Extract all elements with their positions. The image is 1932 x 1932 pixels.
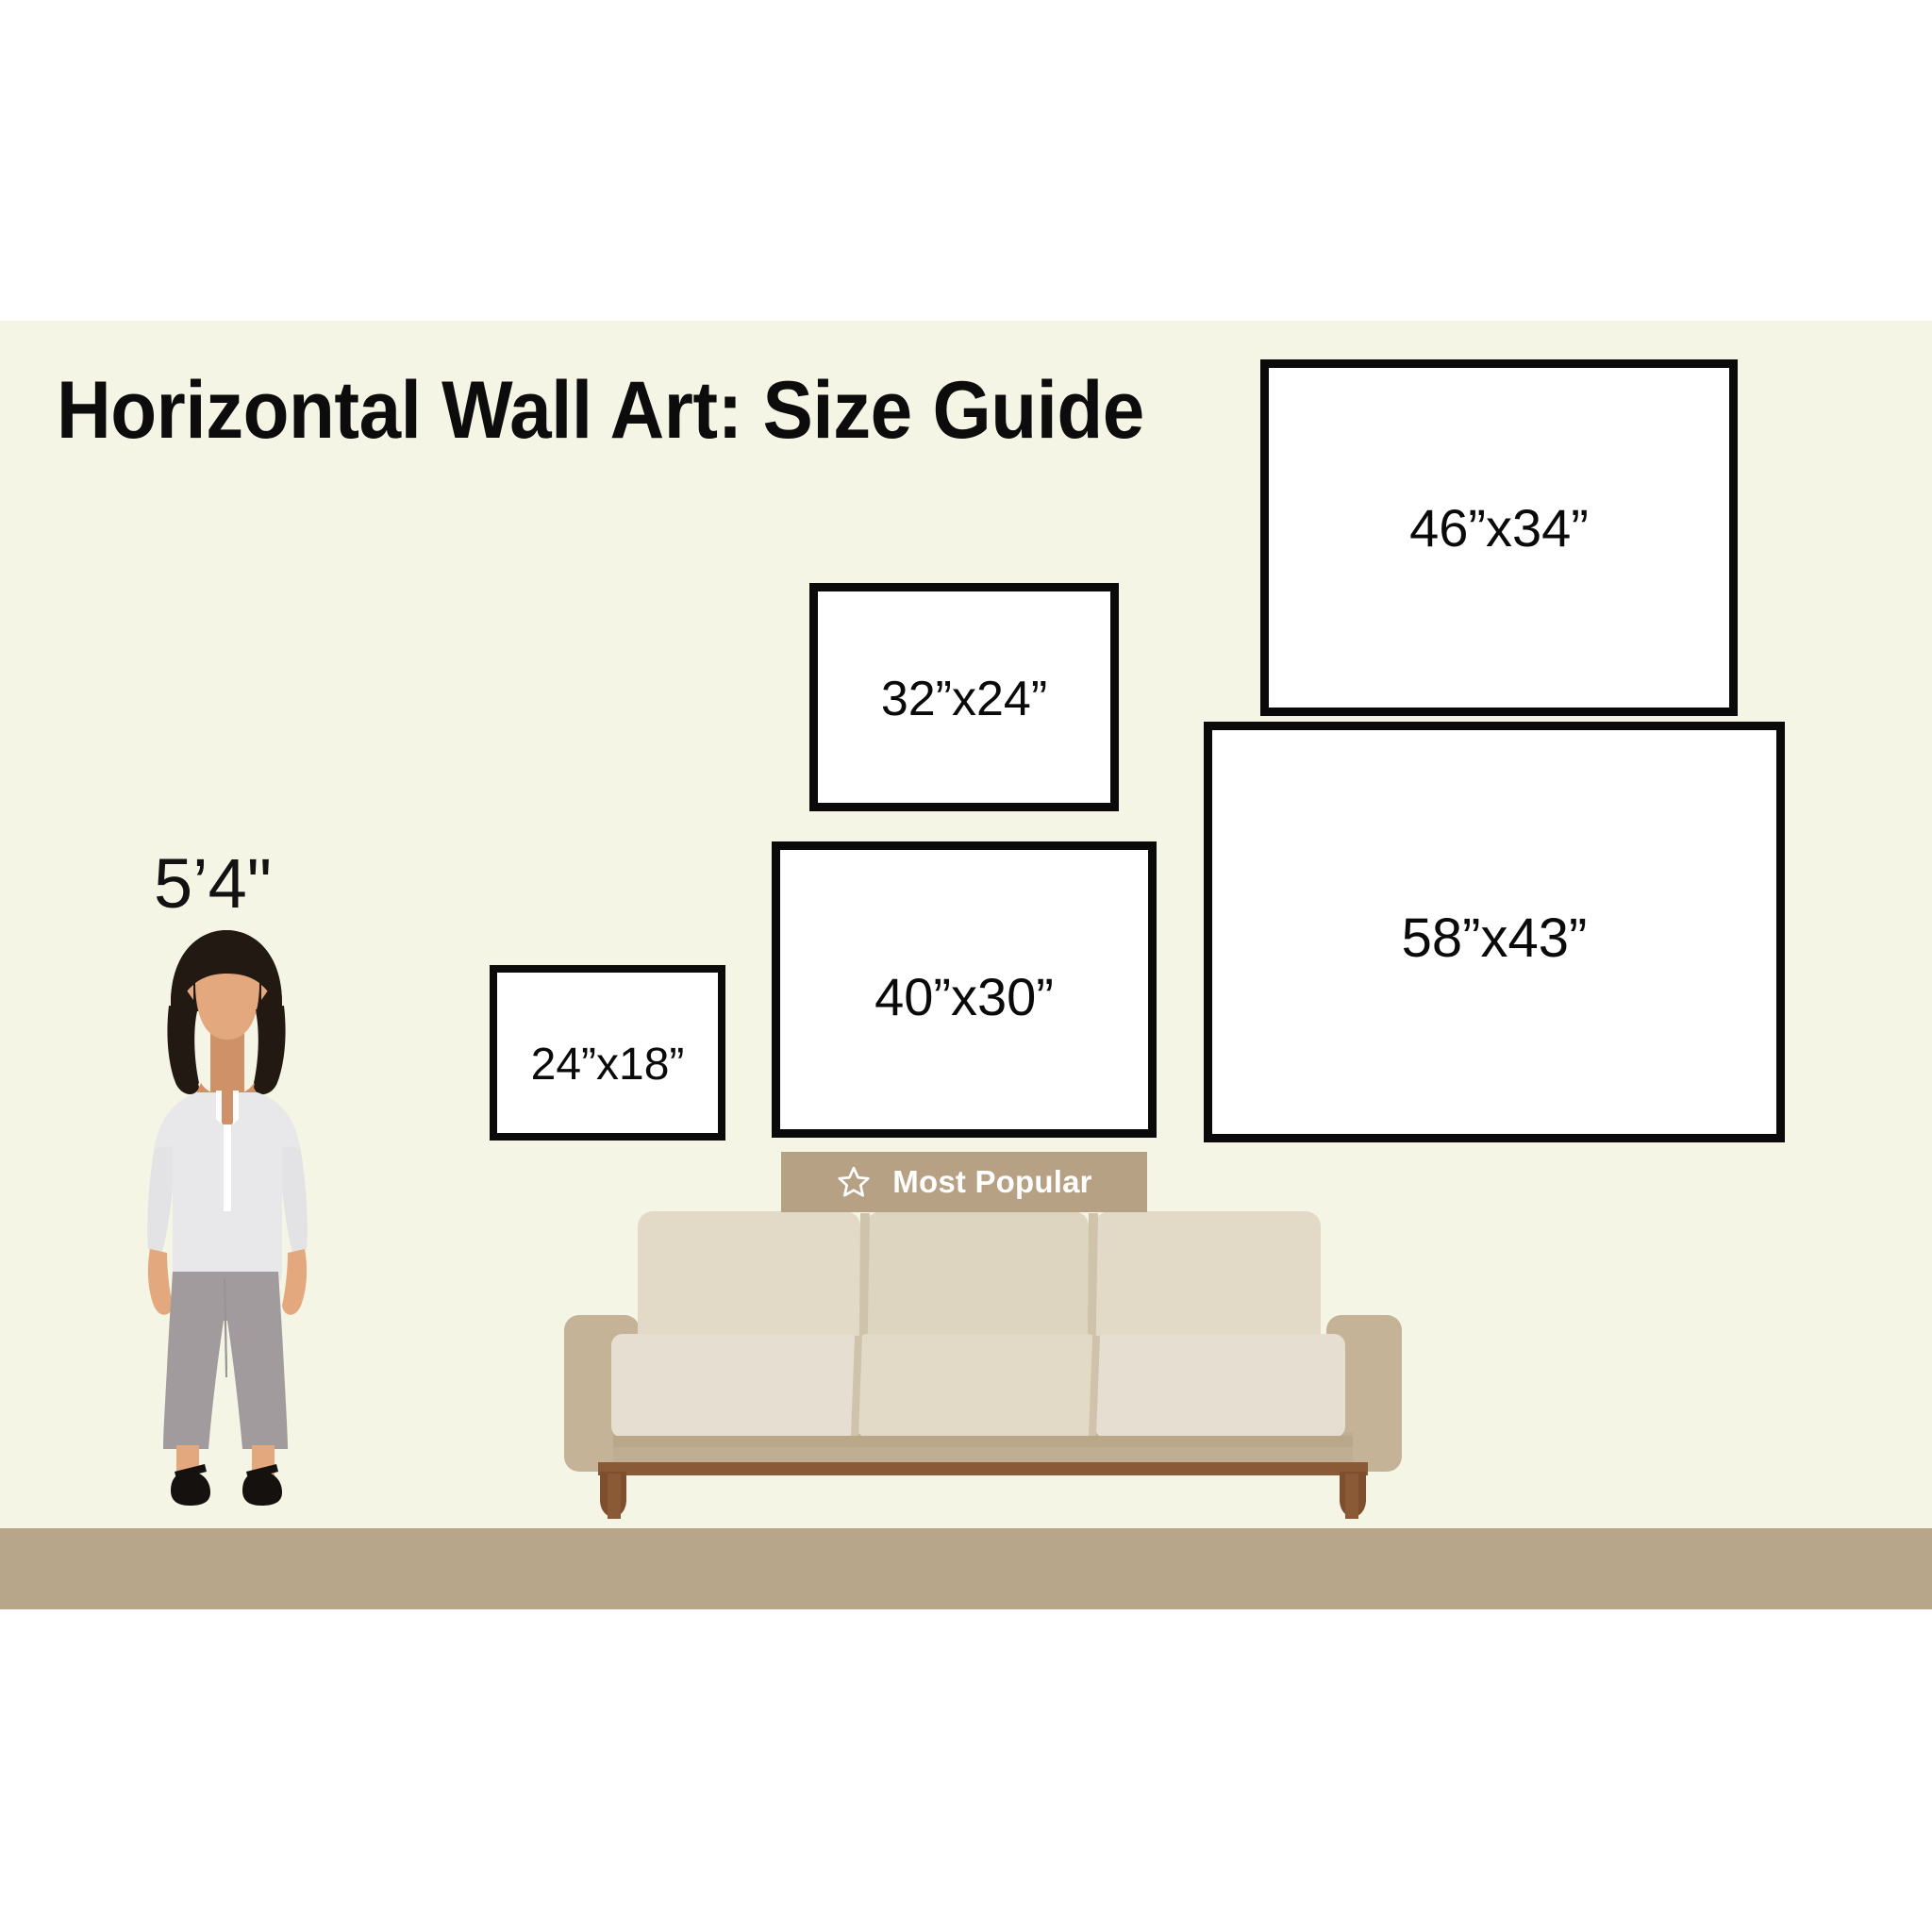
- frame-label-40x30: 40”x30”: [780, 971, 1148, 1024]
- sofa-illustration: [558, 1198, 1407, 1530]
- frame-32x24[interactable]: 32”x24”: [809, 583, 1119, 811]
- wall-art-size-guide-infographic: Horizontal Wall Art: Size Guide 5’4": [0, 0, 1932, 1932]
- person-figure: [118, 924, 335, 1528]
- frame-24x18[interactable]: 24”x18”: [490, 965, 725, 1141]
- frame-40x30[interactable]: 40”x30”: [772, 841, 1157, 1138]
- frame-46x34[interactable]: 46”x34”: [1260, 359, 1738, 716]
- frame-label-24x18: 24”x18”: [497, 1042, 718, 1088]
- star-outline-icon: [836, 1164, 872, 1200]
- frame-label-46x34: 46”x34”: [1269, 502, 1729, 555]
- floor-band: [0, 1528, 1932, 1609]
- room-scene: Horizontal Wall Art: Size Guide 5’4": [0, 321, 1932, 1609]
- frame-label-58x43: 58”x43”: [1212, 911, 1776, 966]
- most-popular-badge[interactable]: Most Popular: [781, 1152, 1147, 1212]
- page-title: Horizontal Wall Art: Size Guide: [57, 370, 1144, 451]
- frame-label-32x24: 32”x24”: [818, 675, 1110, 724]
- most-popular-label: Most Popular: [892, 1164, 1091, 1200]
- person-height-label: 5’4": [154, 849, 272, 919]
- frame-58x43[interactable]: 58”x43”: [1204, 722, 1785, 1142]
